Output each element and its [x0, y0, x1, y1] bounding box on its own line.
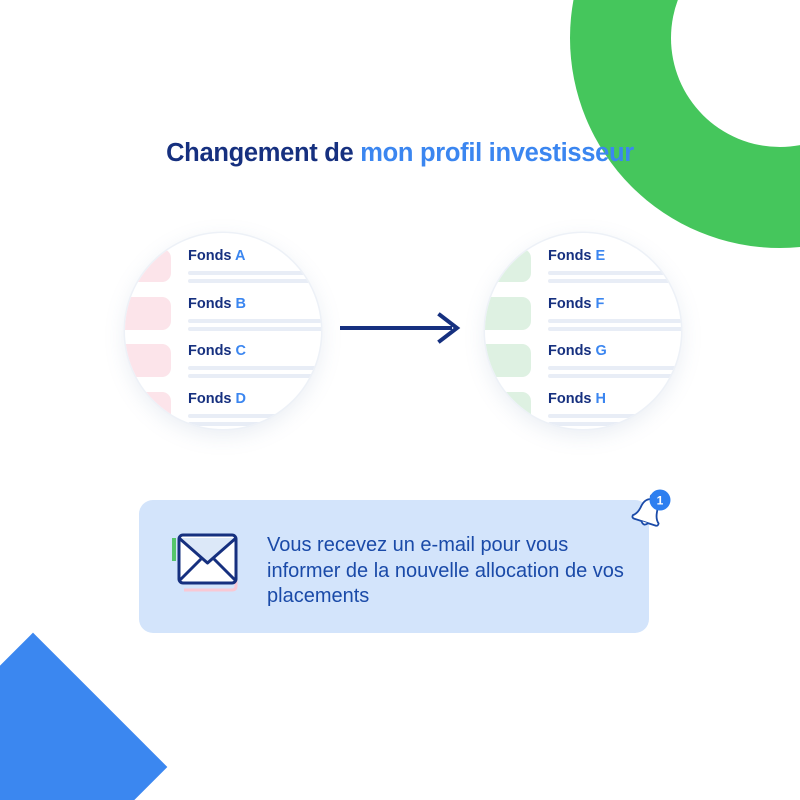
fund-list-item[interactable]: Fonds G [485, 339, 681, 387]
arrow-right-icon [340, 308, 462, 348]
fund-color-badge [485, 249, 531, 282]
fund-letter: D [236, 391, 246, 407]
fund-color-badge [125, 297, 171, 330]
fund-letter: G [596, 343, 607, 359]
fund-letter: B [236, 296, 246, 312]
fund-placeholder-line [188, 327, 321, 331]
fund-list-item[interactable]: Fonds A [125, 244, 321, 292]
fund-prefix: Fonds [188, 391, 232, 407]
fund-color-badge [125, 392, 171, 425]
envelope-glyph [170, 528, 250, 604]
email-notification-text: Vous recevez un e-mail pour vous informe… [267, 533, 627, 610]
current-fund-list: Fonds A Fonds B Fonds C [125, 244, 321, 429]
fund-placeholder-line [548, 319, 681, 323]
fund-label: Fonds B [188, 296, 246, 312]
fund-placeholder-line [548, 271, 681, 275]
fund-placeholder-line [188, 279, 321, 283]
fund-color-badge [125, 344, 171, 377]
fund-placeholder-line [188, 374, 321, 378]
new-portfolio-circle: Fonds E Fonds F Fonds G [485, 233, 681, 429]
infographic-canvas: Changement de mon profil investisseur Fo… [0, 0, 800, 800]
fund-placeholder-line [188, 319, 321, 323]
bell-notification[interactable]: 1 [620, 484, 676, 540]
fund-list-item[interactable]: Fonds D [125, 387, 321, 430]
current-portfolio-circle: Fonds A Fonds B Fonds C [125, 233, 321, 429]
fund-prefix: Fonds [548, 296, 592, 312]
fund-color-badge [485, 297, 531, 330]
fund-prefix: Fonds [188, 296, 232, 312]
fund-list-item[interactable]: Fonds E [485, 244, 681, 292]
fund-prefix: Fonds [548, 248, 592, 264]
fund-prefix: Fonds [188, 343, 232, 359]
fund-prefix: Fonds [548, 391, 592, 407]
fund-placeholder-line [548, 327, 681, 331]
new-fund-list: Fonds E Fonds F Fonds G [485, 244, 681, 429]
fund-placeholder-line [548, 279, 681, 283]
fund-label: Fonds F [548, 296, 604, 312]
fund-placeholder-line [548, 374, 681, 378]
fund-list-item[interactable]: Fonds C [125, 339, 321, 387]
title-part-dark: Changement de [166, 139, 353, 167]
fund-letter: H [596, 391, 606, 407]
fund-label: Fonds A [188, 248, 245, 264]
fund-label: Fonds E [548, 248, 605, 264]
fund-color-badge [125, 249, 171, 282]
page-title: Changement de mon profil investisseur [0, 139, 800, 168]
fund-label: Fonds D [188, 391, 246, 407]
fund-placeholder-line [548, 366, 681, 370]
green-ring-decoration [570, 0, 800, 248]
fund-color-badge [485, 392, 531, 425]
fund-label: Fonds G [548, 343, 607, 359]
fund-placeholder-line [188, 366, 321, 370]
title-part-blue: mon profil investisseur [360, 139, 634, 167]
fund-letter: A [235, 248, 245, 264]
fund-list-item[interactable]: Fonds H [485, 387, 681, 430]
fund-letter: C [236, 343, 246, 359]
fund-placeholder-line [548, 422, 681, 426]
email-notification-card: Vous recevez un e-mail pour vous informe… [139, 500, 649, 633]
bell-icon: 1 [620, 484, 676, 540]
fund-prefix: Fonds [548, 343, 592, 359]
notification-count: 1 [657, 494, 664, 508]
envelope-icon [170, 528, 250, 604]
fund-list-item[interactable]: Fonds F [485, 292, 681, 340]
fund-prefix: Fonds [188, 248, 232, 264]
fund-placeholder-line [188, 271, 321, 275]
fund-color-badge [485, 344, 531, 377]
fund-label: Fonds C [188, 343, 246, 359]
fund-list-item[interactable]: Fonds B [125, 292, 321, 340]
fund-label: Fonds H [548, 391, 606, 407]
fund-placeholder-line [188, 422, 321, 426]
fund-letter: F [596, 296, 605, 312]
transition-arrow [340, 308, 462, 348]
blue-diamond-decoration [0, 633, 167, 800]
fund-letter: E [596, 248, 606, 264]
fund-placeholder-line [188, 414, 321, 418]
fund-placeholder-line [548, 414, 681, 418]
